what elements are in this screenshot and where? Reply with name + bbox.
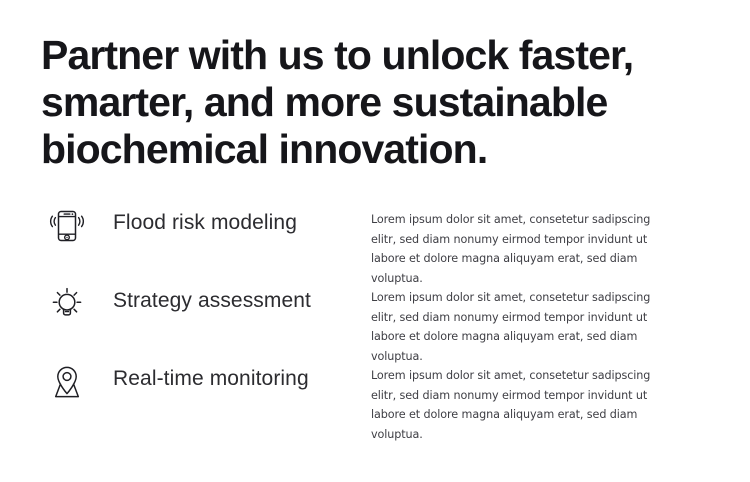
feature-description: Lorem ipsum dolor sit amet, consetetur s… xyxy=(371,366,661,444)
page-title: Partner with us to unlock faster, smarte… xyxy=(41,32,711,173)
feature-list: Flood risk modeling Lorem ipsum dolor si… xyxy=(0,196,750,430)
feature-title: Strategy assessment xyxy=(113,288,371,314)
feature-icon-wrapper xyxy=(0,352,113,405)
map-location-pin-icon xyxy=(44,359,90,405)
feature-body-wrapper: Lorem ipsum dolor sit amet, consetetur s… xyxy=(371,352,750,444)
phone-vibrate-icon xyxy=(44,203,90,249)
feature-icon-wrapper xyxy=(0,196,113,249)
list-item: Strategy assessment Lorem ipsum dolor si… xyxy=(0,274,750,352)
feature-title-wrapper: Real-time monitoring xyxy=(113,352,371,392)
list-item: Flood risk modeling Lorem ipsum dolor si… xyxy=(0,196,750,274)
feature-title: Flood risk modeling xyxy=(113,210,371,236)
feature-title: Real-time monitoring xyxy=(113,366,371,392)
lightbulb-idea-icon xyxy=(44,281,90,327)
feature-title-wrapper: Flood risk modeling xyxy=(113,196,371,236)
list-item: Real-time monitoring Lorem ipsum dolor s… xyxy=(0,352,750,430)
feature-title-wrapper: Strategy assessment xyxy=(113,274,371,314)
feature-section: Partner with us to unlock faster, smarte… xyxy=(0,0,750,482)
feature-icon-wrapper xyxy=(0,274,113,327)
